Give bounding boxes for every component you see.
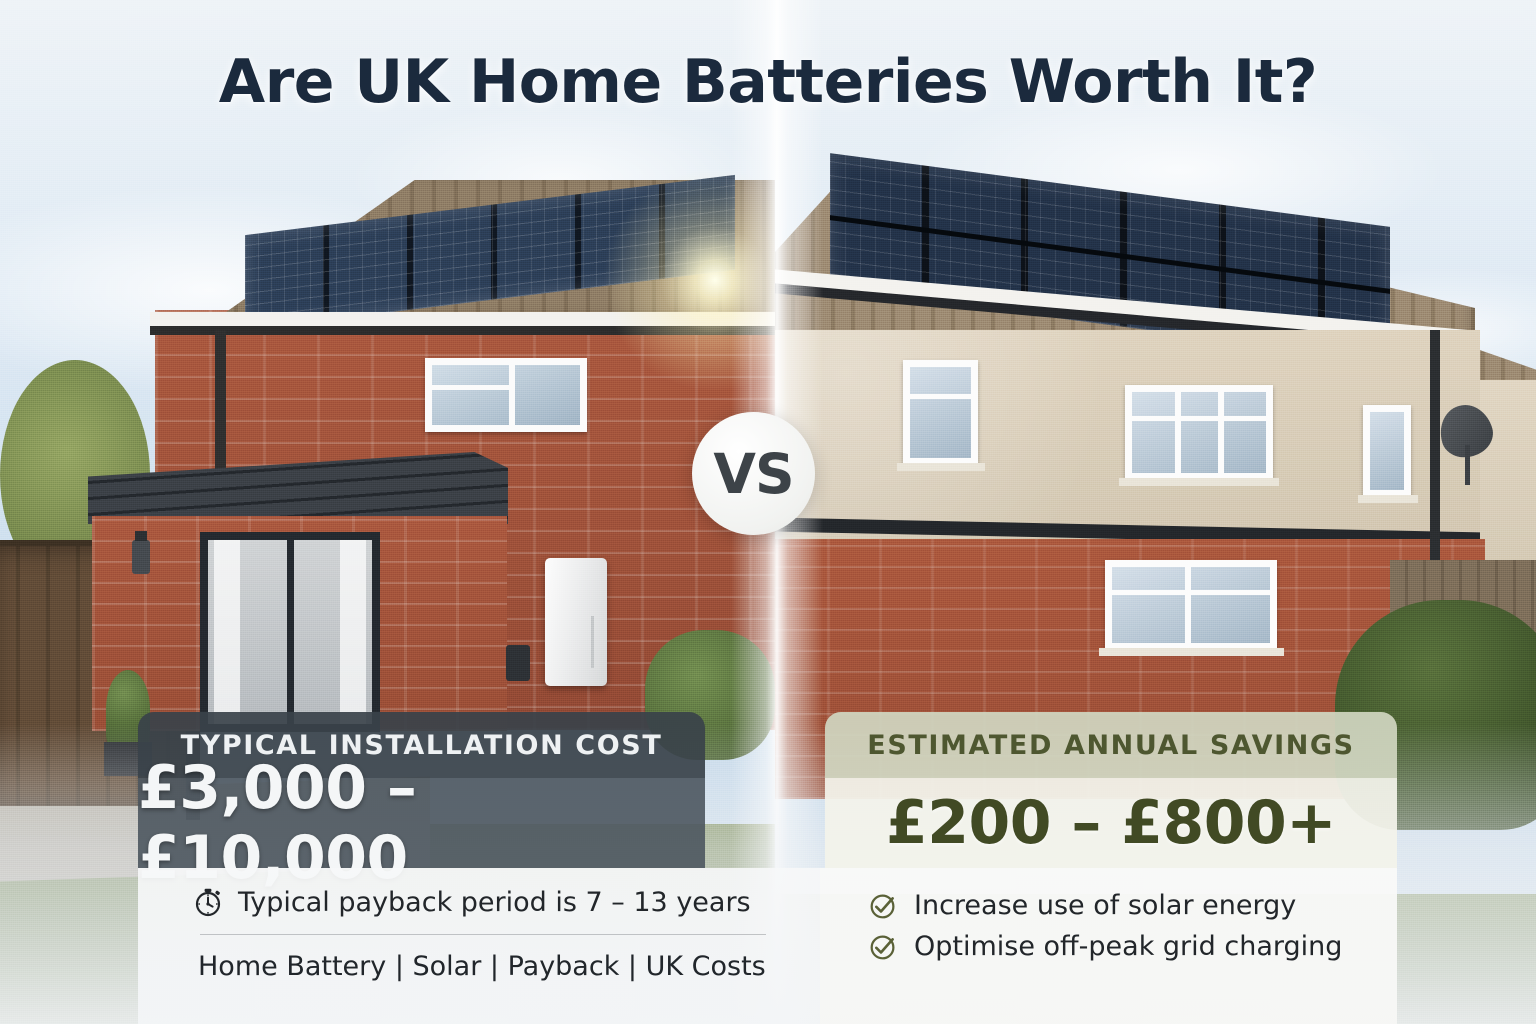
benefit-label-2: Optimise off-peak grid charging xyxy=(914,931,1342,962)
annual-savings-value: £200 – £800+ xyxy=(886,788,1336,858)
topic-tags: Home Battery | Solar | Payback | UK Cost… xyxy=(138,935,820,982)
annual-savings-footer: Increase use of solar energy Optimise of… xyxy=(820,868,1397,1024)
stopwatch-icon xyxy=(192,886,224,918)
annual-savings-header-label: ESTIMATED ANNUAL SAVINGS xyxy=(867,730,1354,761)
payback-period-label: Typical payback period is 7 – 13 years xyxy=(238,887,751,918)
annual-savings-card: ESTIMATED ANNUAL SAVINGS £200 – £800+ xyxy=(825,712,1397,868)
vs-badge: VS xyxy=(692,412,815,535)
benefit-label-1: Increase use of solar energy xyxy=(914,890,1296,921)
benefit-row-1: Increase use of solar energy xyxy=(820,868,1397,921)
payback-period-row: Typical payback period is 7 – 13 years xyxy=(138,868,820,918)
infographic-canvas: Are UK Home Batteries Worth It? VS TYPIC… xyxy=(0,0,1536,1024)
benefit-row-2: Optimise off-peak grid charging xyxy=(820,921,1397,962)
annual-savings-header: ESTIMATED ANNUAL SAVINGS xyxy=(825,712,1397,778)
page-title: Are UK Home Batteries Worth It? xyxy=(0,47,1536,117)
annual-savings-value-band: £200 – £800+ xyxy=(825,778,1397,868)
installation-cost-value-band: £3,000 – £10,000 xyxy=(138,778,705,868)
installation-cost-card: TYPICAL INSTALLATION COST £3,000 – £10,0… xyxy=(138,712,705,868)
circle-check-icon xyxy=(868,890,899,921)
vs-badge-label: VS xyxy=(713,442,793,506)
installation-cost-footer: Typical payback period is 7 – 13 years H… xyxy=(138,868,820,1024)
circle-check-icon xyxy=(868,931,899,962)
